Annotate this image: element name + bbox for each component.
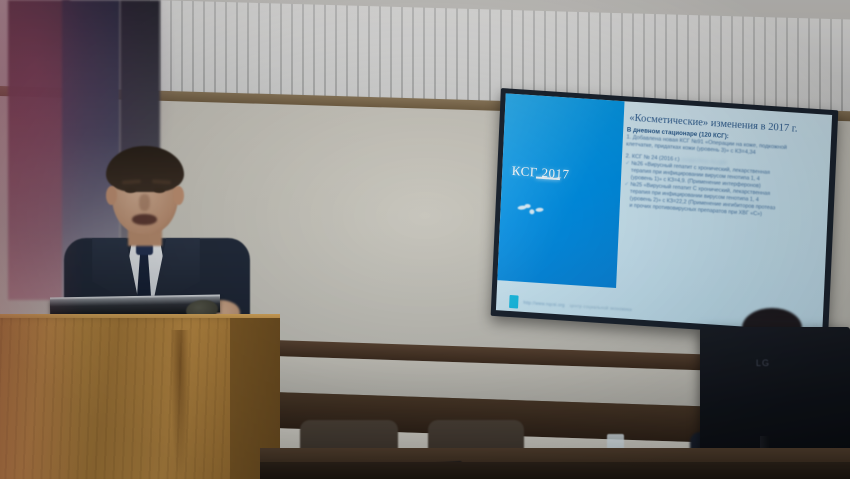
wall-mounted-display[interactable]: КСГ 2017 «Косметические» изменения в 201…	[491, 88, 839, 338]
footer-url: http://www.nqcsi.org	[523, 300, 565, 308]
display-panel: КСГ 2017 «Косметические» изменения в 201…	[496, 93, 832, 331]
screen-glare-spot	[536, 207, 544, 212]
monitor-brand-logo: LG	[756, 358, 770, 368]
conference-photo-scene: КСГ 2017 «Косметические» изменения в 201…	[0, 0, 850, 479]
desktop-monitor[interactable]	[700, 327, 850, 459]
slide-left-panel: КСГ 2017	[497, 93, 625, 287]
podium-wood-knot	[170, 330, 190, 479]
organization-logo-icon	[509, 295, 519, 309]
presenter-hair	[106, 146, 184, 192]
slide-body: «Косметические» изменения в 2017 г. В дн…	[620, 112, 827, 303]
presenter-ear-right	[173, 186, 184, 205]
wooden-lectern	[0, 318, 280, 479]
screen-glare-spot	[525, 204, 531, 208]
screen-glare-spot	[530, 209, 535, 214]
presenter-eye-right	[154, 188, 165, 193]
slide-left-label: КСГ 2017	[511, 163, 569, 183]
footer-organization: центр социальной экономики	[570, 303, 632, 312]
presenter-nose	[139, 194, 150, 211]
presenter-eye-left	[125, 188, 136, 193]
table-front-edge	[260, 462, 850, 479]
presenter-ear-left	[106, 186, 117, 205]
presenter-mouth	[132, 214, 157, 225]
